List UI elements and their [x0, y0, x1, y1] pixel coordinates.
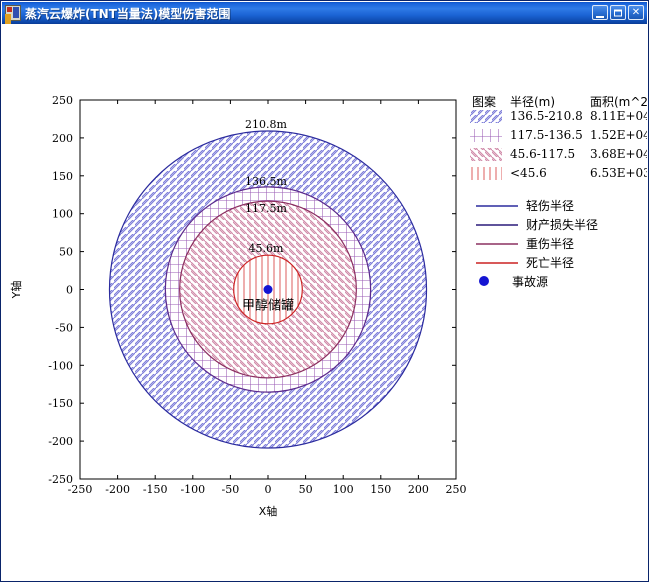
legend-line-label: 死亡半径: [526, 256, 574, 270]
x-tick-label: -100: [180, 483, 205, 496]
legend-area-value: 8.11E+04: [590, 109, 647, 123]
legend-swatch: [470, 148, 502, 161]
y-tick-label: -250: [48, 473, 73, 486]
legend-line-label: 重伤半径: [526, 237, 574, 251]
x-tick-label: 0: [265, 483, 272, 496]
y-tick-label: -150: [48, 397, 73, 410]
maximize-button[interactable]: [610, 5, 626, 20]
legend-radius-value: 117.5-136.5: [510, 128, 583, 142]
y-tick-label: 150: [52, 170, 73, 183]
minimize-button[interactable]: [592, 5, 608, 20]
legend-radius-value: 45.6-117.5: [510, 147, 575, 161]
legend-area-value: 3.68E+04: [590, 147, 647, 161]
x-axis-title: X轴: [259, 504, 278, 518]
x-tick-label: 250: [446, 483, 467, 496]
ring-label: 117.5m: [245, 202, 287, 215]
legend-swatch: [470, 167, 502, 180]
y-axis-title: Y轴: [9, 281, 23, 300]
close-icon: ✕: [632, 8, 640, 18]
x-tick-label: 50: [299, 483, 313, 496]
x-tick-label: -200: [105, 483, 130, 496]
damage-radius-chart: -250-200-150-100-50050100150200250250200…: [2, 24, 647, 581]
y-tick-label: 200: [52, 132, 73, 145]
x-tick-label: -150: [143, 483, 168, 496]
legend-radius-value: 136.5-210.8: [510, 109, 583, 123]
accident-source-label: 甲醇储罐: [242, 298, 294, 314]
app-icon: [5, 5, 21, 21]
legend-swatch: [470, 129, 502, 142]
x-tick-label: 200: [408, 483, 429, 496]
window-client-area: -250-200-150-100-50050100150200250250200…: [2, 24, 647, 581]
y-tick-label: 100: [52, 208, 73, 221]
legend-line-label: 轻伤半径: [526, 199, 574, 213]
legend-swatch: [470, 110, 502, 123]
window-title: 蒸汽云爆炸(TNT当量法)模型伤害范围: [25, 5, 230, 22]
x-tick-label: 150: [370, 483, 391, 496]
legend-header-area: 面积(m^2): [590, 95, 647, 109]
x-tick-label: 100: [333, 483, 354, 496]
window-controls: ✕: [592, 5, 644, 20]
legend-radius-value: <45.6: [510, 166, 547, 180]
title-bar: 蒸汽云爆炸(TNT当量法)模型伤害范围 ✕: [2, 2, 647, 24]
chart-container: -250-200-150-100-50050100150200250250200…: [2, 24, 647, 581]
legend-area-value: 1.52E+04: [590, 128, 647, 142]
y-tick-label: -100: [48, 359, 73, 372]
y-tick-label: -50: [55, 321, 73, 334]
chart-legend: 图案半径(m)面积(m^2)136.5-210.88.11E+04117.5-1…: [470, 94, 647, 289]
accident-source-marker: [264, 285, 273, 294]
ring-label: 136.5m: [245, 175, 287, 188]
y-tick-label: 50: [59, 246, 73, 259]
legend-marker-label: 事故源: [512, 274, 548, 289]
y-tick-label: 0: [66, 284, 73, 297]
ring-label: 210.8m: [245, 118, 287, 131]
x-tick-label: -50: [222, 483, 240, 496]
legend-header-pattern: 图案: [472, 94, 496, 109]
application-window: 蒸汽云爆炸(TNT当量法)模型伤害范围 ✕: [0, 0, 649, 582]
ring-label: 45.6m: [249, 242, 284, 255]
legend-header-radius: 半径(m): [510, 95, 555, 109]
legend-line-label: 财产损失半径: [526, 217, 598, 232]
legend-area-value: 6.53E+03: [590, 166, 647, 180]
close-button[interactable]: ✕: [628, 5, 644, 20]
y-tick-label: -200: [48, 435, 73, 448]
y-tick-label: 250: [52, 94, 73, 107]
legend-marker-swatch: [479, 276, 489, 286]
